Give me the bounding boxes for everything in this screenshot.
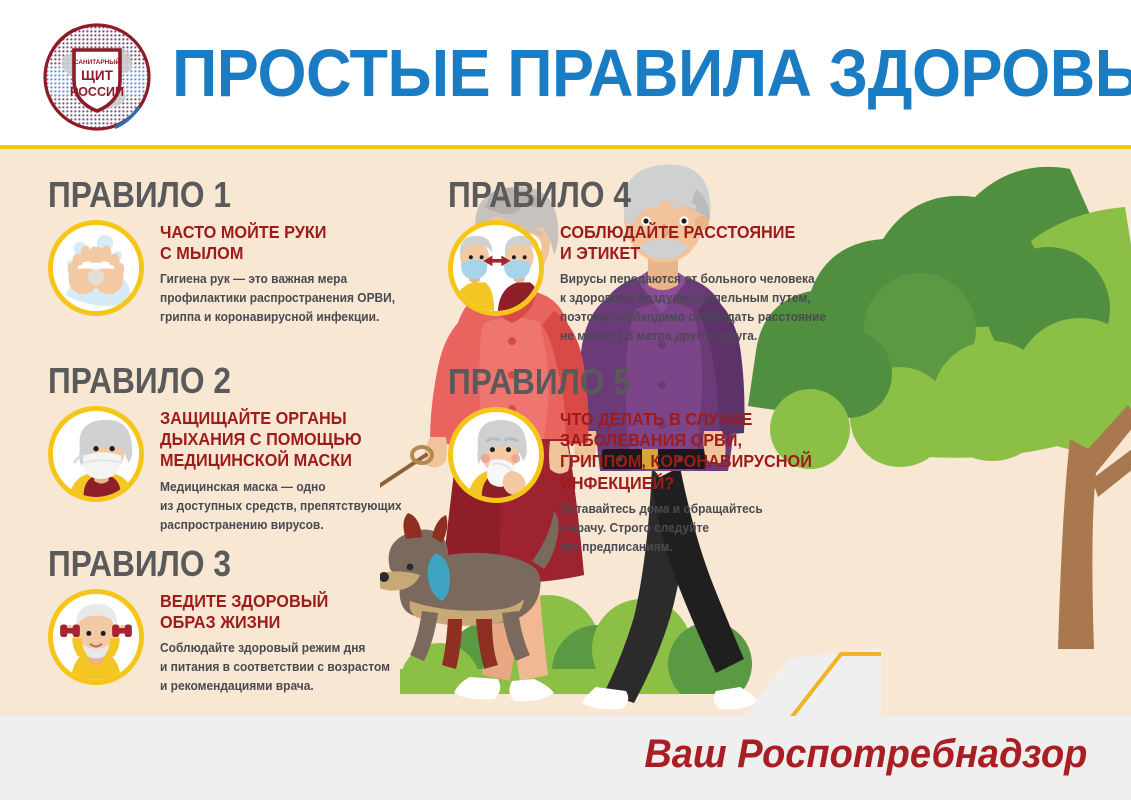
rule-label-3: ПРАВИЛО 3 bbox=[48, 545, 367, 583]
exercise-dumbbells-icon bbox=[48, 589, 144, 685]
rule-block-3: ПРАВИЛО 3 bbox=[48, 545, 410, 696]
header-bar: САНИТАРНЫЙ ЩИТ РОССИИ ПРОСТЫЕ ПРАВИЛА ЗД… bbox=[0, 0, 1131, 148]
rule-description-4: Вирусы передаются от больного человека к… bbox=[560, 270, 826, 345]
page-title: ПРОСТЫЕ ПРАВИЛА ЗДОРОВЬЯ bbox=[172, 28, 1046, 118]
infographic-poster: САНИТАРНЫЙ ЩИТ РОССИИ ПРОСТЫЕ ПРАВИЛА ЗД… bbox=[0, 0, 1131, 800]
rule-block-5: ПРАВИЛО 5 bbox=[448, 363, 831, 557]
rule-title-4: СОБЛЮДАЙТЕ РАССТОЯНИЕ И ЭТИКЕТ bbox=[560, 222, 829, 265]
rule-block-1: ПРАВИЛО 1 bbox=[48, 176, 416, 327]
person-wearing-mask-icon bbox=[48, 406, 144, 502]
footer-signature: Ваш Роспотребнадзор bbox=[644, 732, 1087, 777]
rule-description-1: Гигиена рук — это важная мера профилакти… bbox=[160, 270, 395, 327]
sanitary-shield-of-russia-logo: САНИТАРНЫЙ ЩИТ РОССИИ bbox=[38, 18, 156, 136]
sneezing-into-tissue-icon bbox=[448, 407, 544, 503]
social-distance-icon bbox=[448, 220, 544, 316]
rule-label-2: ПРАВИЛО 2 bbox=[48, 362, 378, 400]
rule-label-5: ПРАВИЛО 5 bbox=[448, 363, 785, 401]
rule-description-3: Соблюдайте здоровый режим дня и питания … bbox=[160, 639, 390, 696]
rule-label-1: ПРАВИЛО 1 bbox=[48, 176, 371, 214]
rule-block-2: ПРАВИЛО 2 bbox=[48, 362, 423, 534]
rule-description-2: Медицинская маска — одно из доступных ср… bbox=[160, 478, 402, 535]
washing-hands-icon bbox=[48, 220, 144, 316]
footer-bar: Ваш Роспотребнадзор bbox=[0, 716, 1131, 800]
rule-title-5: ЧТО ДЕЛАТЬ В СЛУЧАЕ ЗАБОЛЕВАНИЯ ОРВИ, ГР… bbox=[560, 409, 812, 494]
rule-title-2: ЗАЩИЩАЙТЕ ОРГАНЫ ДЫХАНИЯ С ПОМОЩЬЮ МЕДИЦ… bbox=[160, 408, 404, 472]
rule-block-4: ПРАВИЛО 4 bbox=[448, 176, 849, 346]
logo-line3: РОССИИ bbox=[70, 85, 124, 99]
rule-label-4: ПРАВИЛО 4 bbox=[448, 176, 801, 214]
logo-line1: САНИТАРНЫЙ bbox=[74, 57, 121, 66]
rule-title-1: ЧАСТО МОЙТЕ РУКИ С МЫЛОМ bbox=[160, 222, 398, 265]
logo-line2: ЩИТ bbox=[81, 68, 113, 83]
rule-description-5: Оставайтесь дома и обращайтесь к врачу. … bbox=[560, 500, 809, 557]
rule-title-3: ВЕДИТЕ ЗДОРОВЫЙ ОБРАЗ ЖИЗНИ bbox=[160, 591, 392, 634]
